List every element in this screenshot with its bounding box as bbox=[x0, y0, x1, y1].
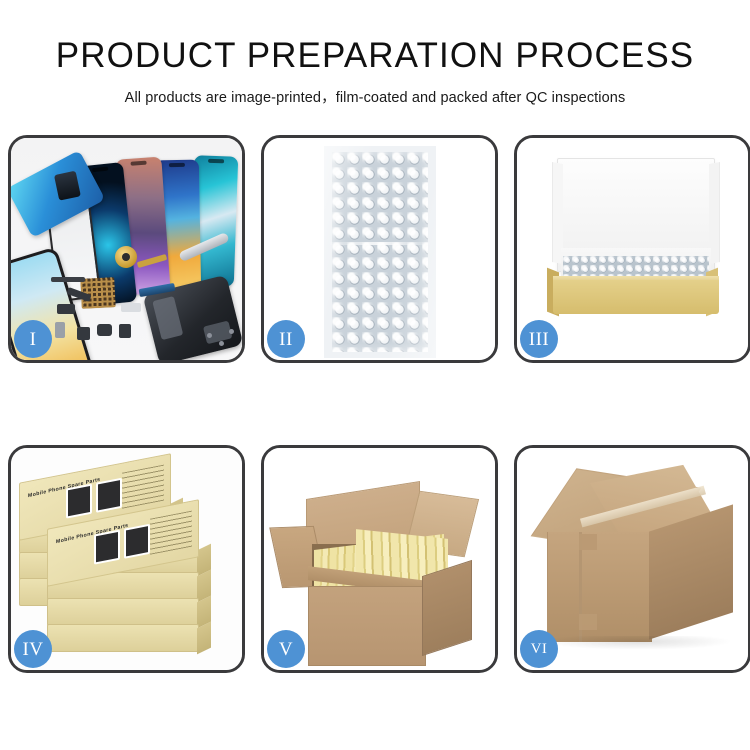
bubble-wrap-pouch-icon bbox=[324, 146, 436, 358]
header: PRODUCT PREPARATION PROCESS All products… bbox=[0, 0, 750, 120]
step-2-number-badge: II bbox=[267, 320, 305, 358]
spare-part-icon bbox=[97, 324, 112, 336]
product-photo-print bbox=[96, 478, 122, 513]
spare-part-icon bbox=[121, 303, 141, 312]
carton-front-panel bbox=[547, 532, 652, 642]
process-step-1: I bbox=[8, 135, 245, 363]
step-4-number-badge: IV bbox=[14, 630, 52, 668]
product-preparation-infographic: PRODUCT PREPARATION PROCESS All products… bbox=[0, 0, 750, 750]
step-6-frame: VI bbox=[514, 445, 750, 673]
box-side bbox=[197, 622, 211, 655]
notch-icon bbox=[169, 163, 185, 167]
step-1-frame: I bbox=[8, 135, 245, 363]
process-step-5: V bbox=[261, 445, 498, 673]
screw-icon bbox=[207, 333, 212, 338]
notch-icon bbox=[130, 161, 146, 166]
spec-text-lines bbox=[150, 511, 192, 555]
screw-icon bbox=[219, 341, 224, 346]
product-photo-print bbox=[124, 524, 150, 559]
step-5-frame: V bbox=[261, 445, 498, 673]
stacked-box-icon bbox=[47, 598, 199, 626]
carton-tab bbox=[579, 614, 597, 630]
carton-shadow bbox=[543, 636, 733, 650]
step-5-number-badge: V bbox=[267, 630, 305, 668]
page-title: PRODUCT PREPARATION PROCESS bbox=[0, 36, 750, 76]
step-4-frame: Mobile Phone Spare Parts Mobile Phone Sp… bbox=[8, 445, 245, 673]
step-1-number-badge: I bbox=[14, 320, 52, 358]
flex-cable-icon bbox=[51, 277, 85, 282]
process-steps-grid: I II bbox=[0, 130, 750, 690]
carton-tab bbox=[579, 534, 597, 550]
notch-icon bbox=[92, 167, 108, 173]
product-photo-print bbox=[94, 530, 120, 565]
spec-text-lines bbox=[122, 465, 164, 509]
process-step-6: VI bbox=[514, 445, 750, 673]
step-3-number-badge: III bbox=[520, 320, 558, 358]
notch-icon bbox=[208, 159, 224, 164]
carton-side-panel bbox=[422, 560, 472, 656]
page-subtitle: All products are image-printed，film-coat… bbox=[0, 86, 750, 107]
step-6-number-badge: VI bbox=[520, 630, 558, 668]
screw-icon bbox=[229, 329, 234, 334]
box-front-panel bbox=[553, 280, 719, 314]
process-step-4: Mobile Phone Spare Parts Mobile Phone Sp… bbox=[8, 445, 245, 673]
spare-part-icon bbox=[119, 324, 131, 338]
process-step-3: III bbox=[514, 135, 750, 363]
step-3-frame: III bbox=[514, 135, 750, 363]
pouch-gloss-highlight bbox=[324, 146, 436, 358]
step-2-frame: II bbox=[261, 135, 498, 363]
process-step-2: II bbox=[261, 135, 498, 363]
carton-front-panel bbox=[308, 586, 426, 666]
spare-part-icon bbox=[57, 304, 75, 314]
vibration-motor-icon bbox=[115, 246, 137, 268]
spare-part-icon bbox=[55, 322, 65, 338]
product-photo-print bbox=[66, 484, 92, 519]
stacked-box-icon bbox=[47, 624, 199, 652]
spare-part-icon bbox=[77, 327, 90, 340]
